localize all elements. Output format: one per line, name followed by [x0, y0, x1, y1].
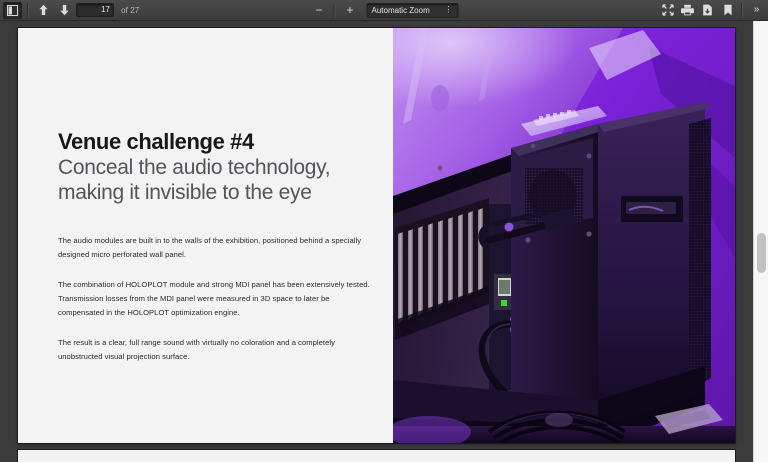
- headline-line-2: Conceal the audio technology,: [58, 155, 378, 180]
- slide-text-column: Venue challenge #4 Conceal the audio tec…: [18, 28, 393, 443]
- toolbar-zoom-group: − + Automatic Zoom ⋮: [310, 0, 459, 21]
- more-tools-label: »: [754, 5, 760, 15]
- vertical-scrollbar[interactable]: [753, 21, 768, 462]
- toolbar-right-group: »: [658, 0, 766, 21]
- more-tools-button[interactable]: »: [747, 2, 766, 19]
- body-paragraph: The audio modules are built in to the wa…: [58, 234, 370, 262]
- slide-photo: Rear view of black loudspeaker / audio m…: [393, 28, 735, 443]
- pdf-viewer-app: of 27 − + Automatic Zoom ⋮: [0, 0, 768, 462]
- download-icon[interactable]: [698, 2, 717, 19]
- toolbar-separator-2: [334, 3, 336, 17]
- pdf-page: Venue challenge #4 Conceal the audio tec…: [18, 28, 735, 443]
- headline-line-1: Venue challenge #4: [58, 128, 378, 155]
- page-count-label: of 27: [121, 6, 139, 15]
- body-paragraph: The combination of HOLOPLOT module and s…: [58, 278, 370, 320]
- toolbar-separator-1: [27, 3, 29, 17]
- zoom-out-label: −: [315, 4, 322, 16]
- chevron-down-icon: ⋮: [445, 7, 454, 13]
- toolbar-separator-3: [741, 3, 743, 17]
- zoom-level-select[interactable]: Automatic Zoom ⋮: [367, 3, 459, 18]
- pdf-viewer-canvas[interactable]: Venue challenge #4 Conceal the audio tec…: [0, 21, 768, 462]
- zoom-in-label: +: [346, 4, 353, 16]
- slide-body-copy: The audio modules are built in to the wa…: [58, 234, 370, 364]
- print-icon[interactable]: [678, 2, 697, 19]
- toolbar-left-group: of 27: [0, 0, 139, 21]
- body-paragraph: The result is a clear, full range sound …: [58, 336, 370, 364]
- bookmark-icon[interactable]: [718, 2, 737, 19]
- arrow-up-icon[interactable]: [34, 2, 53, 19]
- arrow-down-icon[interactable]: [55, 2, 74, 19]
- sidebar-toggle-icon[interactable]: [3, 2, 22, 19]
- presentation-mode-icon[interactable]: [658, 2, 677, 19]
- pdf-toolbar: of 27 − + Automatic Zoom ⋮: [0, 0, 768, 21]
- slide-headline: Venue challenge #4 Conceal the audio tec…: [58, 128, 378, 205]
- pdf-page-next: [18, 450, 735, 462]
- page-number-input[interactable]: [76, 3, 114, 17]
- zoom-out-button[interactable]: −: [310, 2, 329, 19]
- zoom-level-label: Automatic Zoom: [372, 6, 430, 15]
- headline-line-3: making it invisible to the eye: [58, 180, 378, 205]
- zoom-in-button[interactable]: +: [341, 2, 360, 19]
- scrollbar-thumb[interactable]: [757, 233, 766, 273]
- pdf-pages-container: Venue challenge #4 Conceal the audio tec…: [0, 21, 753, 462]
